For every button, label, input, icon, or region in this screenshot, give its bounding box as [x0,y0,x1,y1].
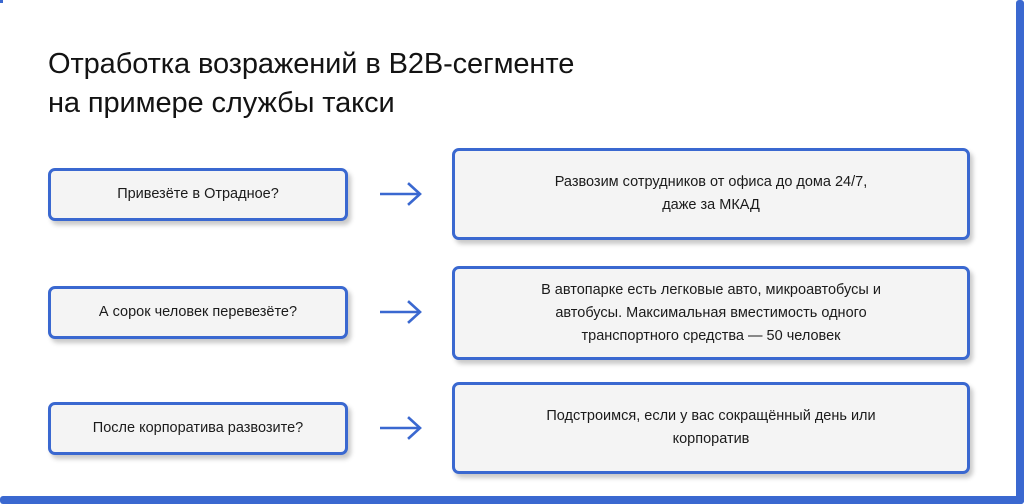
slide-canvas: Отработка возражений в B2B-сегменте на п… [0,0,1024,504]
arrow-right-icon [378,416,428,440]
answer-box[interactable]: Развозим сотрудников от офиса до дома 24… [452,148,970,240]
answer-box[interactable]: В автопарке есть легковые авто, микроавт… [452,266,970,360]
flow-row: А сорок человек перевезёте? В автопарке … [0,266,1024,358]
flow-row: После корпоратива развозите? Подстроимся… [0,382,1024,474]
slide-title: Отработка возражений в B2B-сегменте на п… [48,45,848,123]
answer-box[interactable]: Подстроимся, если у вас сокращённый день… [452,382,970,474]
arrow-right-icon [378,300,428,324]
flow-row: Привезёте в Отраднoе? Развозим сотрудник… [0,148,1024,240]
objection-box[interactable]: Привезёте в Отраднoе? [48,168,348,221]
arrow-right-icon [378,182,428,206]
frame-accent-bottom [0,496,1024,504]
objection-box[interactable]: После корпоратива развозите? [48,402,348,455]
objection-box[interactable]: А сорок человек перевезёте? [48,286,348,339]
frame-corner-marker [0,0,3,3]
